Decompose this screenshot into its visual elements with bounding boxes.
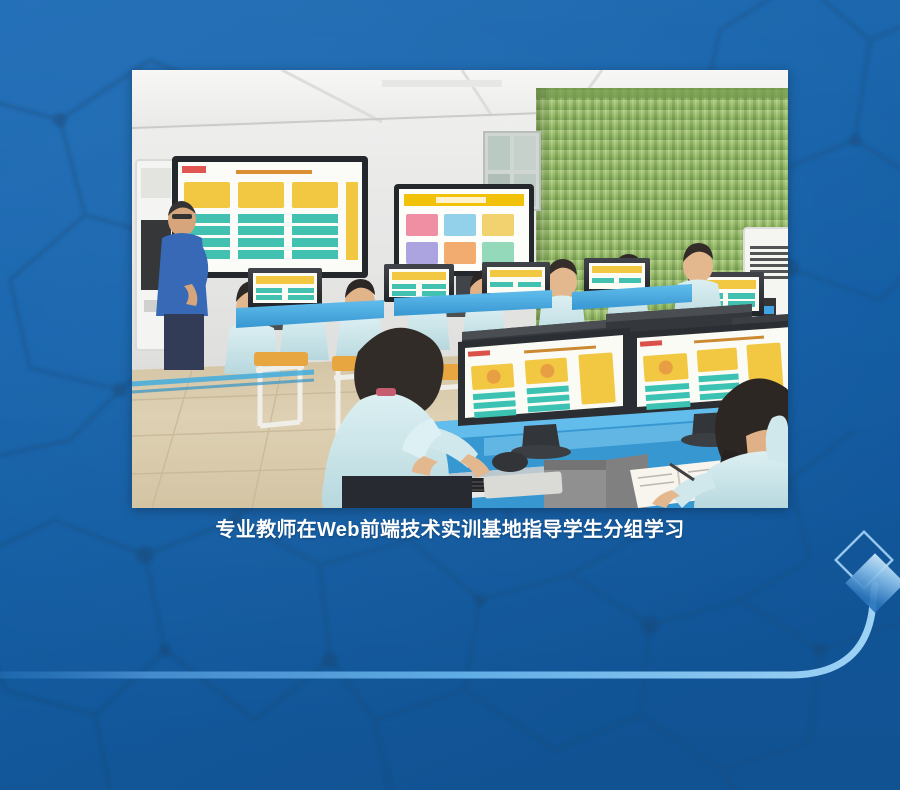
photo-caption: 专业教师在Web前端技术实训基地指导学生分组学习 <box>0 516 900 544</box>
classroom-photo <box>132 70 788 508</box>
page-root: 专业教师在Web前端技术实训基地指导学生分组学习 <box>0 0 900 790</box>
